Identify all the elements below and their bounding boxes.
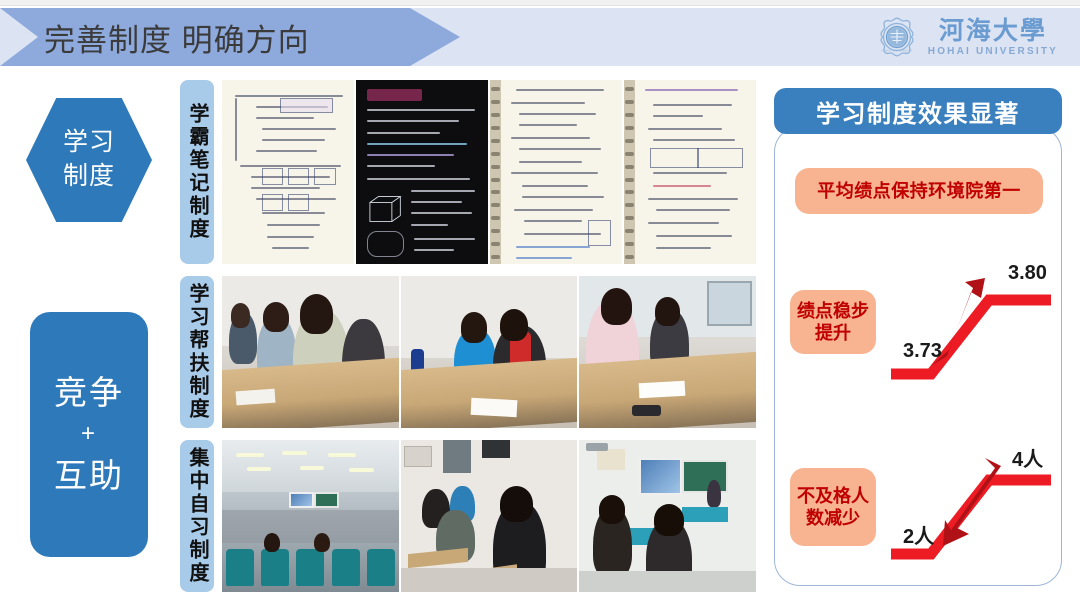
open-book [639,381,686,399]
student-head [599,495,626,524]
pill-plus-sign: + [81,417,97,452]
notebook-photo-1[interactable] [222,80,354,264]
chart-label-fail-decrease: 不及格人数减少 [790,468,876,546]
logo-name-cn: 河海大學 [939,18,1047,43]
top-gray-strip [0,0,1080,6]
fail-end-value: 4人 [1012,443,1043,472]
classroom-photo-2[interactable] [401,276,578,428]
student-head [300,294,334,334]
ceiling-fan-icon [586,443,607,451]
student-head [601,288,633,324]
notebook-highlight-1 [280,98,333,113]
lecture-hall-ceiling-1 [222,440,399,492]
notebook-cell-3 [314,168,335,185]
chart-label-gpa-increase-text: 绩点稳步提升 [790,300,876,345]
notebook-cell-4 [262,194,283,211]
photo-row-study-notes [222,80,756,264]
logo-name-en: HOHAI UNIVERSITY [928,47,1058,57]
university-logo: HOHAI UNIVERSITY 河海大學 HOHAI UNIVERSITY [876,14,1058,60]
pill-line-2: 互助 [54,452,124,500]
notebook-cell-5 [288,194,309,211]
notebook-table-divider [697,148,699,168]
lecture-hall-photo-3[interactable] [579,440,756,592]
university-seal-icon: HOHAI UNIVERSITY [876,16,918,58]
gpa-end-value: 3.80 [1008,262,1047,285]
classroom-photo-1[interactable] [222,276,399,428]
notebook-photo-4[interactable] [624,80,756,264]
teacher-figure [707,480,721,507]
auditorium-seat [261,549,289,585]
results-panel-badge: 学习制度效果显著 [774,88,1062,134]
projection-screen [639,458,681,494]
lecture-hall-photo-2[interactable] [401,440,578,592]
photo-row-group-self-study [222,440,756,592]
blackboard [314,492,339,509]
student-head [500,309,528,341]
classroom-desk-2 [401,357,578,428]
gpa-start-value: 3.73 [903,340,942,363]
student-head [264,533,280,553]
row-label-study-assistance: 学习帮扶制度 [180,276,214,428]
study-system-hexagon[interactable]: 学习 制度 [26,98,152,222]
air-conditioner [404,446,432,467]
student-head [231,303,250,327]
student-head [654,504,684,536]
chart-label-gpa-increase: 绩点稳步提升 [790,290,876,354]
classroom-photo-3[interactable] [579,276,756,428]
smartphone [632,405,660,416]
notebook-sketch-box [588,220,612,246]
hexagon-line-1: 学习 [63,126,115,160]
door [443,440,471,473]
auditorium-seat [332,549,360,585]
row-label-study-notes: 学霸笔记制度 [180,80,214,264]
classroom-window [707,281,753,327]
chart-label-fail-decrease-text: 不及格人数减少 [790,485,876,530]
student-head [655,297,680,326]
svg-text:HOHAI UNIVERSITY: HOHAI UNIVERSITY [881,49,912,53]
student-head [314,533,330,553]
notebook-photo-2[interactable] [356,80,488,264]
projection-screen [289,492,314,509]
lecture-hall-photo-1[interactable] [222,440,399,592]
notebook-cell-2 [288,168,309,185]
student-head [500,486,534,522]
competition-mutual-aid-pill[interactable]: 竞争 + 互助 [30,312,148,557]
pill-line-1: 竞争 [54,369,124,417]
auditorium-seat [226,549,254,585]
notebook-photo-3[interactable] [490,80,622,264]
classroom-desk-6 [682,507,728,522]
student-head [461,312,488,342]
notebook-handwriting-4 [624,80,756,264]
header-divider [0,66,1080,68]
notebook-formula-box [367,231,404,257]
floor [401,568,578,592]
page-title: 完善制度 明确方向 [44,8,310,66]
photo-row-study-assistance [222,276,756,428]
auditorium-seat [367,549,395,585]
student-head [263,302,290,332]
blackboard [682,460,728,493]
down-arrow-icon [943,458,1001,546]
highlight-gpa-rank: 平均绩点保持环境院第一 [795,168,1043,214]
open-book [236,389,276,405]
floor [579,571,756,592]
seated-crowd [222,510,399,543]
row-label-group-self-study: 集中自习制度 [180,440,214,592]
auditorium-seat [296,549,324,585]
notebook-cube-diagram [364,187,406,235]
hexagon-line-2: 制度 [63,160,115,194]
wall-speaker [482,440,510,458]
open-book [471,398,518,417]
fail-start-value: 2人 [903,520,934,549]
notebook-cell-1 [262,168,283,185]
window-curtain [597,449,625,470]
